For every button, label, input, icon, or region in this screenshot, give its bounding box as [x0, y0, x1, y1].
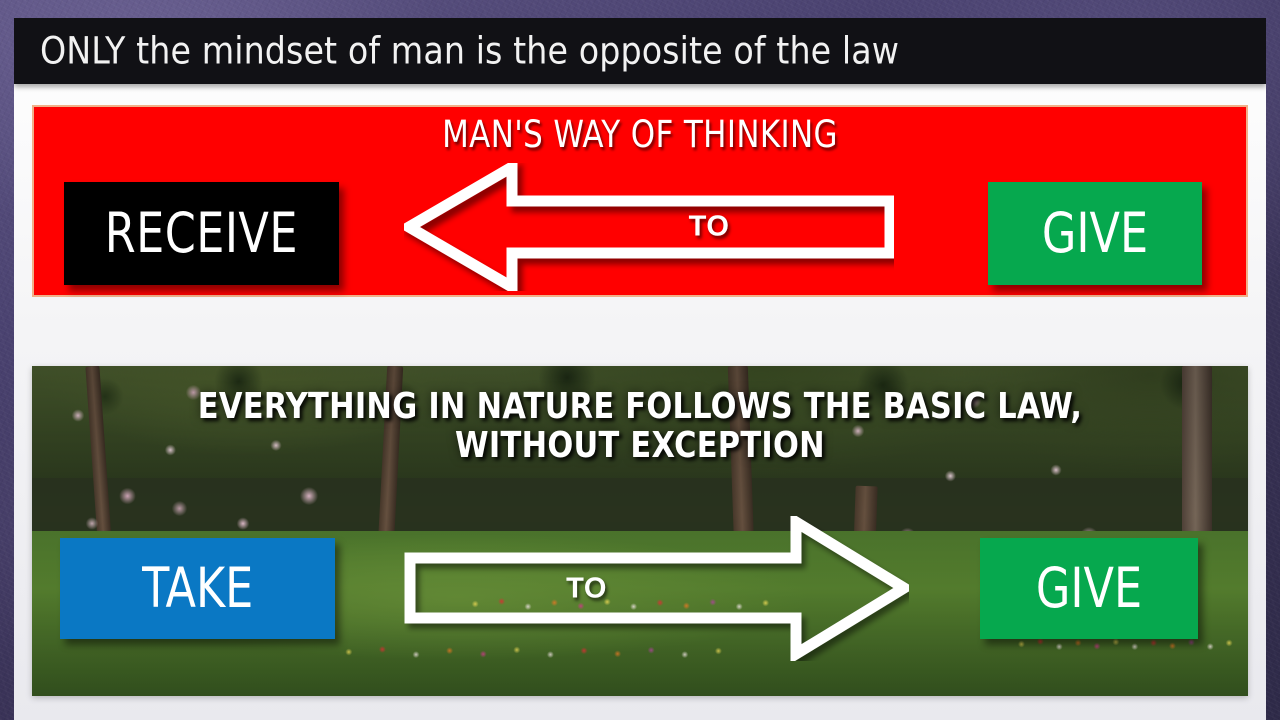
nature-heading: EVERYTHING IN NATURE FOLLOWS THE BASIC L…	[68, 388, 1211, 466]
page-title: ONLY the mindset of man is the opposite …	[40, 30, 899, 73]
receive-box[interactable]: RECEIVE	[64, 182, 339, 285]
give-box-top[interactable]: GIVE	[988, 182, 1202, 285]
mans-way-heading: MAN'S WAY OF THINKING	[76, 113, 1203, 156]
arrow-left-svg	[404, 163, 894, 291]
give-box-bottom-label: GIVE	[1036, 561, 1142, 616]
give-box-bottom[interactable]: GIVE	[980, 538, 1198, 639]
arrow-right-outline-icon: TO	[404, 516, 909, 661]
nature-heading-line-2: WITHOUT EXCEPTION	[68, 427, 1211, 466]
receive-box-label: RECEIVE	[105, 206, 298, 261]
nature-heading-line-1: EVERYTHING IN NATURE FOLLOWS THE BASIC L…	[68, 388, 1211, 427]
nature-panel: EVERYTHING IN NATURE FOLLOWS THE BASIC L…	[32, 366, 1248, 696]
take-box[interactable]: TAKE	[60, 538, 335, 639]
take-box-label: TAKE	[142, 561, 253, 616]
arrow-right-svg	[404, 516, 909, 661]
give-box-top-label: GIVE	[1042, 206, 1148, 261]
slide-outer-frame: ONLY the mindset of man is the opposite …	[0, 0, 1280, 720]
title-bar: ONLY the mindset of man is the opposite …	[14, 18, 1266, 84]
mans-way-panel: MAN'S WAY OF THINKING RECEIVE TO GIVE	[32, 105, 1248, 297]
slide-canvas: ONLY the mindset of man is the opposite …	[14, 18, 1266, 720]
arrow-left-outline-icon: TO	[404, 163, 894, 291]
